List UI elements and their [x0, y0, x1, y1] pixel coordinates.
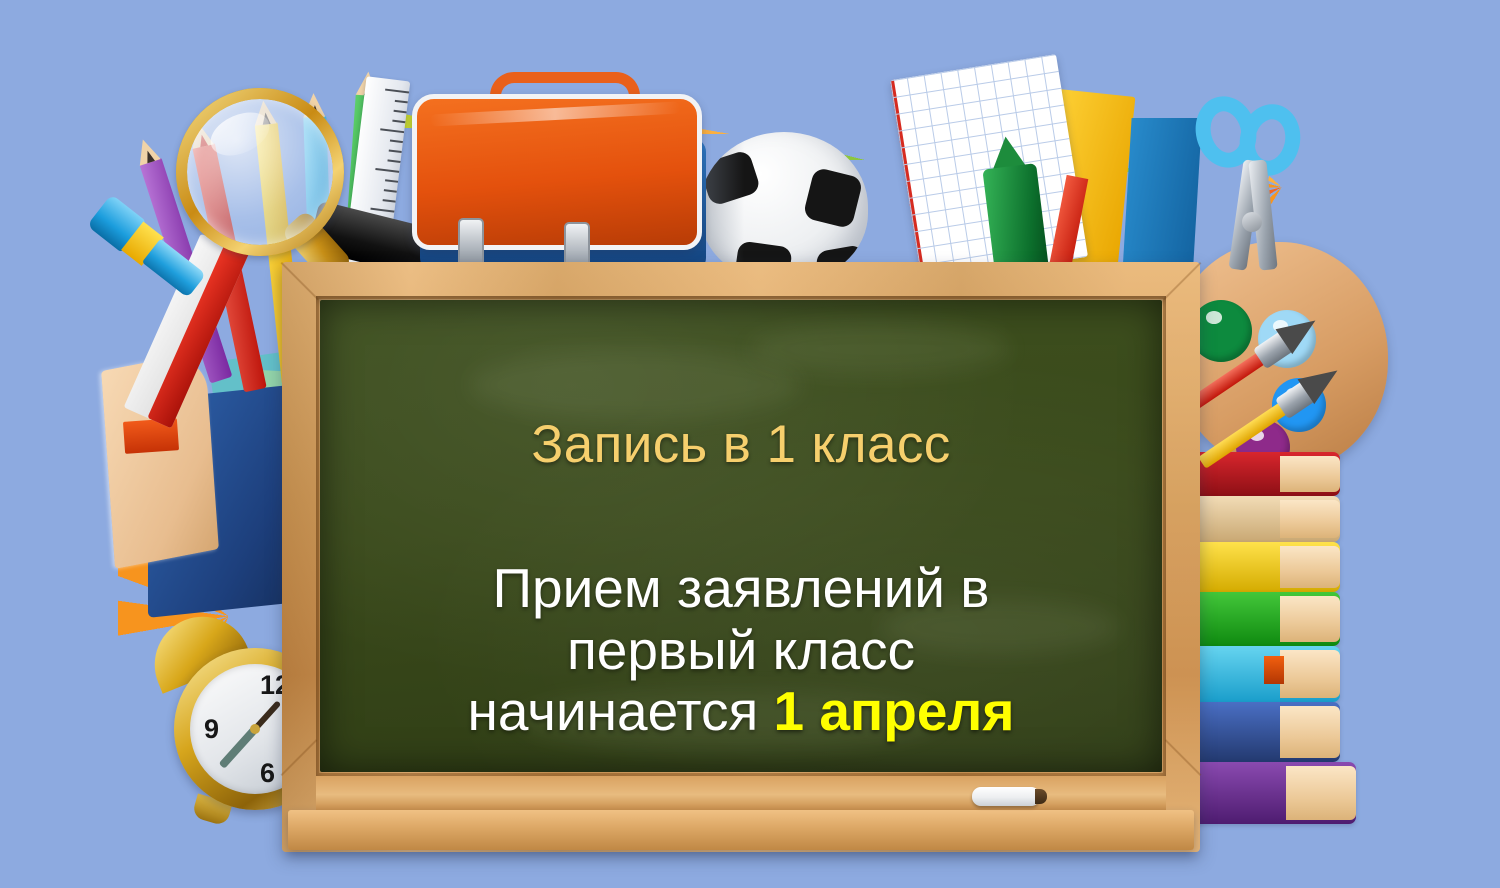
scissors: [1196, 96, 1306, 286]
body-line-3: начинается 1 апреля: [320, 681, 1162, 743]
magnifying-glass-icon: [176, 88, 344, 256]
book-stack: [1178, 452, 1356, 872]
clock-center-pin: [250, 724, 260, 734]
book-pages: [1280, 650, 1340, 698]
book-pages: [1280, 546, 1340, 588]
magnifier-gloss: [204, 104, 276, 164]
book-bookmark: [1264, 656, 1284, 684]
clock-number-6: 6: [260, 760, 275, 787]
book-pages: [1280, 596, 1340, 642]
chalk-ledge: [288, 810, 1194, 850]
book-blue: [1178, 702, 1340, 762]
body-line-1: Прием заявлений в: [320, 558, 1162, 620]
body-line-3-plain: начинается: [468, 680, 774, 742]
book-green: [1178, 592, 1340, 646]
soccer-ball: [700, 132, 868, 282]
poster-canvas: 12 9 6: [0, 0, 1500, 888]
page-title: Запись в 1 класс: [320, 414, 1162, 475]
ball-pentagon-1: [754, 178, 810, 228]
book-yellow: [1178, 542, 1340, 592]
book-pages: [1286, 766, 1356, 820]
start-date-highlight: 1 апреля: [774, 680, 1015, 742]
chalk-stick[interactable]: [972, 787, 1040, 806]
clock-number-9: 9: [204, 716, 219, 743]
book-cyan: [1178, 646, 1340, 702]
chalk-smudge-1: [470, 350, 800, 420]
announcement-body: Прием заявлений в первый класс начинаетс…: [320, 558, 1162, 743]
ball-pentagon-3: [802, 167, 863, 230]
book-pages: [1280, 500, 1340, 538]
school-satchel: [412, 72, 712, 272]
chalk-smudge-2: [750, 324, 1010, 374]
chalkboard: Запись в 1 класс Прием заявлений в первы…: [282, 262, 1200, 852]
chalkboard-surface[interactable]: Запись в 1 класс Прием заявлений в первы…: [320, 300, 1162, 772]
book-pages: [1280, 706, 1340, 758]
scissors-pivot: [1242, 212, 1262, 232]
folder-blue: [1122, 118, 1202, 280]
book-pages: [1280, 456, 1340, 492]
body-line-2: первый класс: [320, 620, 1162, 682]
book-purple: [1178, 762, 1356, 824]
book-tan: [1178, 496, 1340, 542]
